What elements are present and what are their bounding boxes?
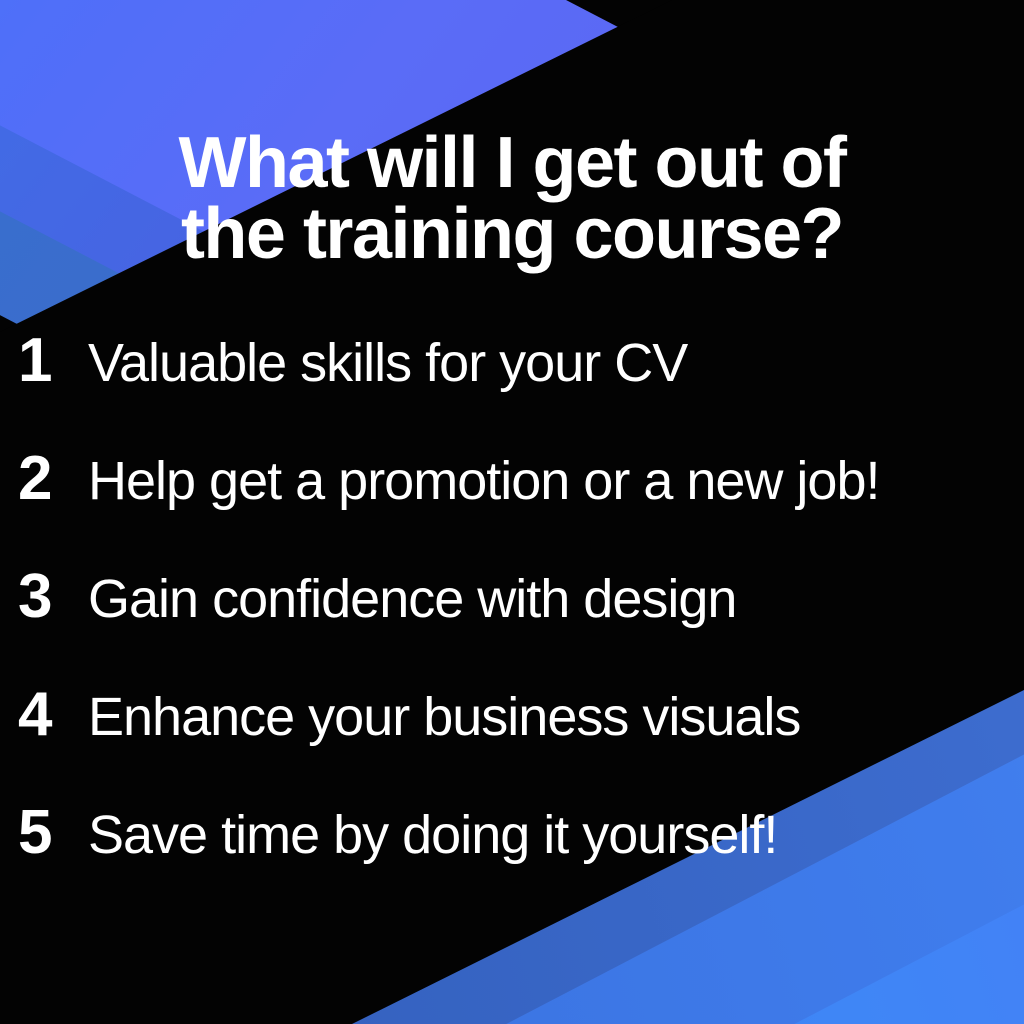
list-item-label: Enhance your business visuals (88, 690, 800, 744)
list-item-number: 3 (0, 566, 88, 628)
list-item-number: 1 (0, 330, 88, 392)
list-item-label: Help get a promotion or a new job! (88, 454, 879, 508)
list-item-number: 5 (0, 802, 88, 864)
list-item-number: 2 (0, 448, 88, 510)
list-item: 3 Gain confidence with design (0, 566, 1024, 684)
list-item: 4 Enhance your business visuals (0, 684, 1024, 802)
list-item: 2 Help get a promotion or a new job! (0, 448, 1024, 566)
page-title: What will I get out of the training cour… (0, 128, 1024, 269)
list-item-number: 4 (0, 684, 88, 746)
list-item-label: Valuable skills for your CV (88, 336, 687, 390)
list-item: 5 Save time by doing it yourself! (0, 802, 1024, 920)
page-title-line-2: the training course? (60, 199, 964, 270)
list-item-label: Save time by doing it yourself! (88, 808, 777, 862)
list-item: 1 Valuable skills for your CV (0, 330, 1024, 448)
promo-card: What will I get out of the training cour… (0, 0, 1024, 1024)
page-title-line-1: What will I get out of (60, 128, 964, 199)
benefits-list: 1 Valuable skills for your CV 2 Help get… (0, 330, 1024, 920)
list-item-label: Gain confidence with design (88, 572, 736, 626)
